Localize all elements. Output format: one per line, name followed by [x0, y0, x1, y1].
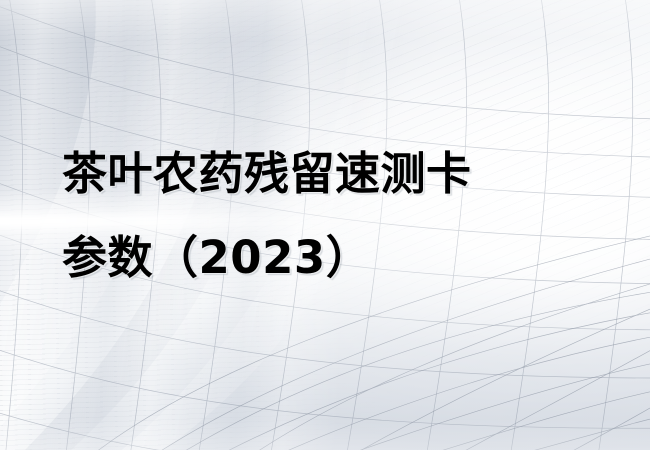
- title-banner: 茶叶农药残留速测卡 参数（2023）: [0, 0, 650, 450]
- title-line-1: 茶叶农药残留速测卡: [62, 132, 622, 216]
- page-title: 茶叶农药残留速测卡 参数（2023）: [62, 132, 622, 300]
- title-line-2: 参数（2023）: [62, 216, 622, 300]
